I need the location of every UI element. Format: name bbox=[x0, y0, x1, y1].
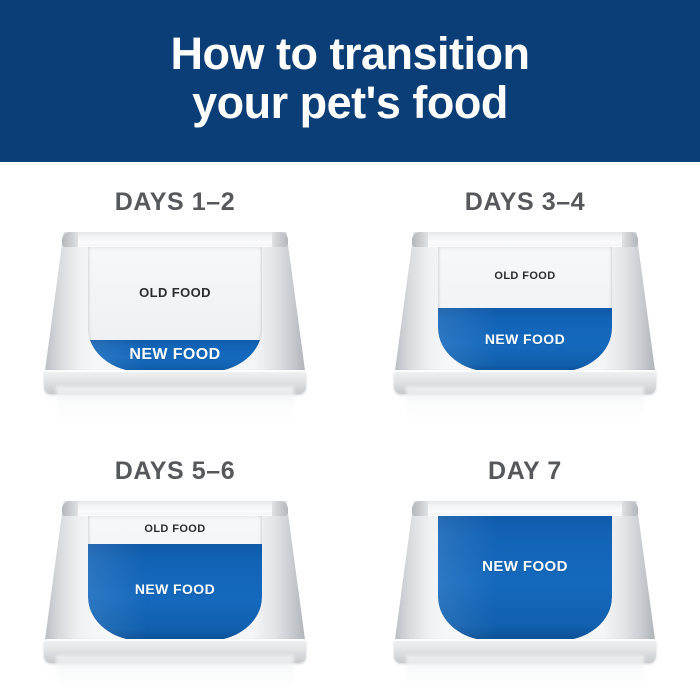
page-title: How to transition your pet's food bbox=[171, 30, 530, 131]
steps-grid: DAYS 1–2 OLD FOOD NEW FOOD DAYS 3–4 bbox=[0, 162, 700, 700]
bowl-rim bbox=[412, 501, 638, 516]
bowl-interior: OLD FOOD NEW FOOD bbox=[88, 243, 262, 372]
bowl-shadow bbox=[406, 386, 644, 420]
food-bowl-2: OLD FOOD NEW FOOD bbox=[394, 232, 656, 394]
bowl-rim bbox=[62, 501, 288, 516]
step-panel-1: DAYS 1–2 OLD FOOD NEW FOOD bbox=[0, 162, 350, 431]
new-food-fill bbox=[438, 512, 612, 641]
step-panel-2: DAYS 3–4 OLD FOOD NEW FOOD bbox=[350, 162, 700, 431]
new-food-label: NEW FOOD bbox=[438, 331, 612, 347]
old-food-label: OLD FOOD bbox=[88, 523, 262, 535]
bowl-shadow bbox=[56, 386, 294, 420]
infographic-page: How to transition your pet's food DAYS 1… bbox=[0, 0, 700, 700]
old-food-label: OLD FOOD bbox=[438, 270, 612, 282]
new-food-label: NEW FOOD bbox=[88, 346, 262, 364]
food-bowl-4: NEW FOOD bbox=[394, 501, 656, 663]
bowl-rim bbox=[412, 232, 638, 247]
food-bowl-1: OLD FOOD NEW FOOD bbox=[44, 232, 306, 394]
bowl-interior: OLD FOOD NEW FOOD bbox=[438, 243, 612, 372]
bowl-shadow bbox=[56, 655, 294, 689]
new-food-label: NEW FOOD bbox=[88, 581, 262, 597]
bowl-shadow bbox=[406, 655, 644, 689]
food-bowl-3: OLD FOOD NEW FOOD bbox=[44, 501, 306, 663]
step-panel-3: DAYS 5–6 OLD FOOD NEW FOOD bbox=[0, 431, 350, 700]
old-food-label: OLD FOOD bbox=[88, 285, 262, 300]
step-label-4: DAY 7 bbox=[350, 457, 700, 486]
step-label-1: DAYS 1–2 bbox=[0, 188, 350, 217]
step-label-3: DAYS 5–6 bbox=[0, 457, 350, 486]
bowl-interior: NEW FOOD bbox=[438, 512, 612, 641]
step-panel-4: DAY 7 NEW FOOD bbox=[350, 431, 700, 700]
new-food-label: NEW FOOD bbox=[438, 558, 612, 575]
bowl-rim bbox=[62, 232, 288, 247]
bowl-interior: OLD FOOD NEW FOOD bbox=[88, 512, 262, 641]
step-label-2: DAYS 3–4 bbox=[350, 188, 700, 217]
header-banner: How to transition your pet's food bbox=[0, 0, 700, 162]
